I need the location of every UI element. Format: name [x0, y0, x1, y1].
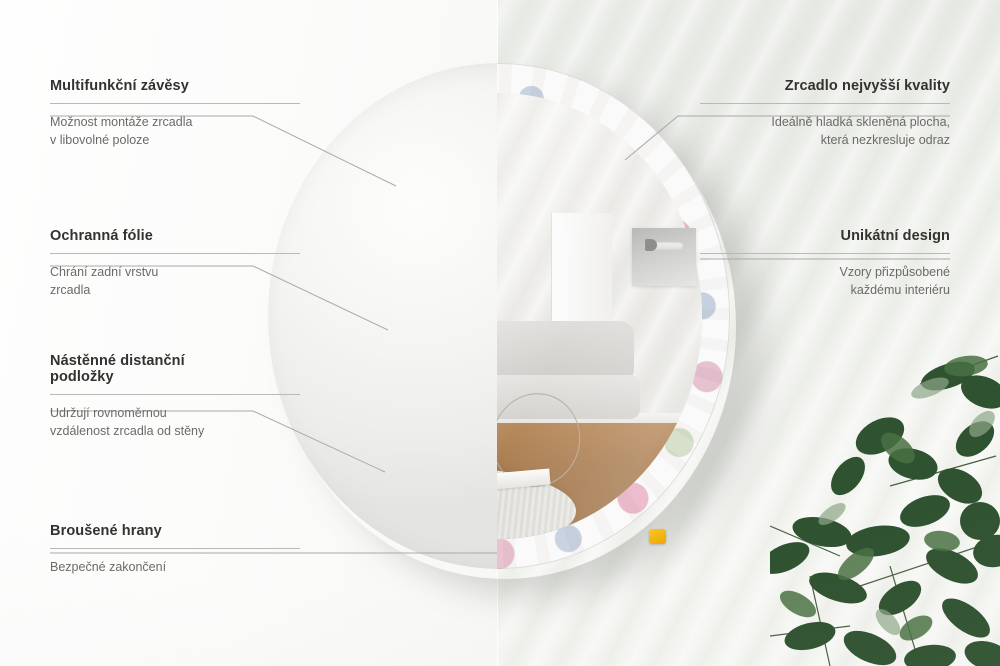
callout-rule	[50, 253, 300, 254]
callout-title: Zrcadlo nejvyšší kvality	[700, 78, 950, 94]
mirror-body	[268, 63, 730, 569]
callout-description: Možnost montáže zrcadla v libovolné polo…	[50, 113, 300, 149]
mirror-product	[268, 63, 738, 583]
foliage-decoration	[770, 336, 1000, 666]
callout-title: Unikátní design	[700, 228, 950, 244]
product-feature-diagram: Multifunkční závěsy Možnost montáže zrca…	[0, 0, 1000, 666]
mirror-front-surface	[497, 63, 730, 569]
distance-pad-icon	[649, 529, 666, 544]
callout-multifunkcni-zavesy: Multifunkční závěsy Možnost montáže zrca…	[50, 78, 300, 149]
callout-rule	[700, 103, 950, 104]
callout-description: Chrání zadní vrstvu zrcadla	[50, 263, 300, 299]
callout-title: Nástěnné distanční podložky	[50, 353, 300, 385]
callout-description: Udržují rovnoměrnou vzdálenost zrcadla o…	[50, 404, 300, 440]
branch-group	[770, 353, 1000, 666]
callout-description: Vzory přizpůsobené každému interiéru	[700, 263, 950, 299]
glass-reflection-sheen	[497, 93, 702, 539]
mirror-back-surface	[268, 63, 497, 569]
callout-rule	[700, 253, 950, 254]
callout-nastenne-distancni-podlozky: Nástěnné distanční podložky Udržují rovn…	[50, 353, 300, 440]
callout-brousene-hrany: Broušené hrany Bezpečné zakončení	[50, 523, 300, 576]
callout-description: Ideálně hladká skleněná plocha, která ne…	[700, 113, 950, 149]
mirror-front-half	[497, 63, 730, 569]
callout-title: Broušené hrany	[50, 523, 300, 539]
callout-unikatni-design: Unikátní design Vzory přizpůsobené každé…	[700, 228, 950, 299]
callout-title: Ochranná fólie	[50, 228, 300, 244]
mirror-glass	[497, 93, 702, 539]
callout-description: Bezpečné zakončení	[50, 558, 300, 576]
callout-rule	[50, 103, 300, 104]
mirror-back-half	[268, 63, 497, 569]
callout-rule	[50, 394, 300, 395]
callout-ochranna-folie: Ochranná fólie Chrání zadní vrstvu zrcad…	[50, 228, 300, 299]
callout-title: Multifunkční závěsy	[50, 78, 300, 94]
hanging-bracket-icon	[632, 228, 696, 286]
callout-rule	[50, 548, 300, 549]
callout-zrcadlo-nejvyssi-kvality: Zrcadlo nejvyšší kvality Ideálně hladká …	[700, 78, 950, 149]
bracket-notch	[645, 239, 657, 251]
